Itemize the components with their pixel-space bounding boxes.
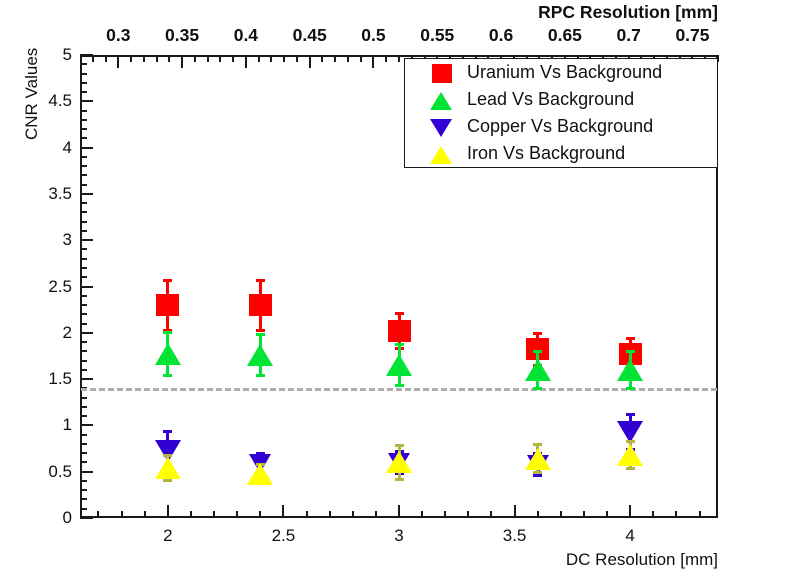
axis-tick	[207, 55, 209, 62]
axis-tick	[80, 258, 87, 260]
axis-tick-label: 4.5	[48, 91, 72, 111]
axis-tick	[352, 511, 354, 518]
data-marker-square	[249, 294, 272, 316]
axis-tick	[194, 55, 196, 62]
legend-label: Lead Vs Background	[467, 89, 634, 110]
axis-tick	[80, 434, 87, 436]
data-marker-square	[156, 294, 179, 316]
axis-tick-label: 0.55	[420, 25, 454, 46]
axis-tick	[121, 511, 123, 518]
axis-tick	[80, 517, 93, 519]
axis-tick	[80, 128, 87, 130]
axis-tick	[245, 55, 247, 68]
data-marker-square	[388, 320, 411, 342]
legend-row[interactable]: Iron Vs Background	[405, 141, 717, 168]
axis-tick	[80, 480, 87, 482]
axis-tick	[92, 55, 94, 62]
axis-tick-label: 0.5	[48, 462, 72, 482]
axis-tick	[270, 55, 272, 62]
axis-tick	[80, 174, 87, 176]
axis-tick	[80, 230, 87, 232]
legend-label: Iron Vs Background	[467, 143, 625, 164]
axis-tick	[181, 55, 183, 68]
axis-tick-label: 2.5	[48, 277, 72, 297]
cnr-scatter-plot: 22.533.540.30.350.40.450.50.550.60.650.7…	[0, 0, 798, 575]
axis-tick	[652, 511, 654, 518]
axis-tick	[385, 55, 387, 62]
error-bar-cap	[533, 350, 542, 353]
axis-tick	[80, 110, 87, 112]
error-bar-cap	[395, 444, 404, 447]
axis-tick	[282, 505, 284, 518]
axis-tick-label: 3.5	[503, 526, 527, 546]
axis-tick-label: 2	[163, 526, 172, 546]
y-axis-title: CNR Values	[22, 48, 42, 140]
axis-tick-label: 4	[625, 526, 634, 546]
legend: Uranium Vs Background Lead Vs Background…	[404, 58, 718, 168]
axis-tick-label: 4	[63, 138, 72, 158]
axis-tick-label: 0.65	[548, 25, 582, 46]
axis-tick	[80, 193, 93, 195]
axis-tick-label: 0.3	[106, 25, 130, 46]
data-marker-triangle-up	[155, 457, 181, 479]
axis-tick	[80, 239, 93, 241]
axis-tick	[80, 471, 93, 473]
axis-tick-label: 1	[63, 415, 72, 435]
axis-tick	[675, 511, 677, 518]
axis-tick	[80, 248, 87, 250]
x-axis-title-top: RPC Resolution [mm]	[538, 2, 718, 23]
axis-tick	[80, 295, 87, 297]
legend-label: Uranium Vs Background	[467, 62, 662, 83]
axis-tick	[80, 54, 93, 56]
axis-tick	[80, 211, 87, 213]
error-bar-cap	[533, 387, 542, 390]
data-marker-triangle-up	[247, 463, 273, 485]
axis-tick	[80, 304, 87, 306]
error-bar-cap	[533, 332, 542, 335]
axis-tick	[309, 55, 311, 68]
data-marker-triangle-up	[247, 344, 273, 366]
axis-tick	[190, 511, 192, 518]
axis-tick	[130, 55, 132, 62]
axis-tick	[347, 55, 349, 62]
data-marker-triangle-up	[386, 451, 412, 473]
axis-tick	[80, 498, 87, 500]
axis-tick	[80, 156, 87, 158]
data-marker-triangle-up	[525, 448, 551, 470]
data-marker-triangle-up	[617, 444, 643, 466]
axis-tick	[232, 55, 234, 62]
axis-tick	[560, 511, 562, 518]
axis-tick	[167, 505, 169, 518]
axis-tick-label: 0.5	[361, 25, 385, 46]
axis-tick	[80, 147, 93, 149]
axis-tick	[398, 55, 400, 62]
axis-tick	[143, 55, 145, 62]
axis-tick	[80, 313, 87, 315]
axis-tick-label: 3	[394, 526, 403, 546]
axis-tick	[80, 82, 87, 84]
data-marker-triangle-up	[386, 354, 412, 376]
error-bar-cap	[163, 430, 172, 433]
error-bar-cap	[163, 279, 172, 282]
x-axis-title-bottom: DC Resolution [mm]	[566, 550, 718, 570]
legend-row[interactable]: Lead Vs Background	[405, 87, 717, 114]
error-bar-cap	[626, 387, 635, 390]
axis-tick	[80, 184, 87, 186]
axis-tick-label: 0.4	[234, 25, 258, 46]
error-bar-cap	[256, 374, 265, 377]
axis-tick	[219, 55, 221, 62]
data-marker-triangle-up	[525, 359, 551, 381]
axis-tick-label: 0.6	[489, 25, 513, 46]
axis-tick	[398, 505, 400, 518]
axis-tick	[80, 165, 87, 167]
error-bar-cap	[626, 467, 635, 470]
error-bar-cap	[395, 312, 404, 315]
axis-tick	[80, 461, 87, 463]
axis-tick	[80, 323, 87, 325]
axis-tick	[80, 350, 87, 352]
axis-tick	[629, 505, 631, 518]
error-bar-cap	[533, 474, 542, 477]
error-bar-cap	[256, 329, 265, 332]
axis-tick	[80, 137, 87, 139]
axis-tick	[80, 360, 87, 362]
axis-tick	[213, 511, 215, 518]
axis-tick	[236, 511, 238, 518]
axis-tick	[168, 55, 170, 62]
axis-tick-label: 0.75	[675, 25, 709, 46]
error-bar-cap	[533, 443, 542, 446]
axis-tick	[80, 286, 93, 288]
axis-tick	[80, 452, 87, 454]
axis-tick	[80, 378, 93, 380]
axis-tick	[296, 55, 298, 62]
error-bar-cap	[533, 471, 542, 474]
axis-tick	[490, 511, 492, 518]
axis-tick	[259, 511, 261, 518]
axis-tick	[97, 511, 99, 518]
axis-tick	[80, 443, 87, 445]
axis-tick	[80, 202, 87, 204]
error-bar-cap	[163, 331, 172, 334]
axis-tick	[80, 91, 87, 93]
axis-tick-label: 0.45	[293, 25, 327, 46]
axis-tick	[375, 511, 377, 518]
data-marker-triangle-up	[617, 359, 643, 381]
legend-row[interactable]: Copper Vs Background	[405, 114, 717, 141]
error-bar-cap	[256, 279, 265, 282]
axis-tick	[606, 511, 608, 518]
error-bar-cap	[256, 333, 265, 336]
legend-marker-square-icon	[427, 60, 461, 87]
legend-marker-triangle-up-icon	[427, 141, 461, 168]
axis-tick	[80, 332, 93, 334]
axis-tick	[80, 63, 87, 65]
legend-row[interactable]: Uranium Vs Background	[405, 60, 717, 87]
axis-tick	[306, 511, 308, 518]
axis-tick	[80, 221, 87, 223]
axis-tick	[105, 55, 107, 62]
error-bar-cap	[626, 350, 635, 353]
axis-tick	[467, 511, 469, 518]
axis-tick	[80, 267, 87, 269]
axis-tick-label: 0.7	[617, 25, 641, 46]
axis-tick	[80, 489, 87, 491]
axis-tick	[80, 406, 87, 408]
axis-tick	[444, 511, 446, 518]
axis-tick-label: 2	[63, 323, 72, 343]
axis-tick	[80, 397, 87, 399]
error-bar-cap	[163, 374, 172, 377]
axis-tick-label: 2.5	[272, 526, 296, 546]
axis-tick-label: 0	[63, 508, 72, 528]
axis-tick	[144, 511, 146, 518]
axis-tick	[421, 511, 423, 518]
axis-tick-label: 5	[63, 45, 72, 65]
axis-tick	[80, 424, 93, 426]
axis-tick	[699, 511, 701, 518]
axis-tick	[80, 119, 87, 121]
axis-tick	[537, 511, 539, 518]
error-bar-cap	[395, 343, 404, 346]
error-bar-cap	[626, 413, 635, 416]
axis-tick	[117, 55, 119, 68]
legend-marker-triangle-up-icon	[427, 87, 461, 114]
error-bar-cap	[626, 337, 635, 340]
legend-label: Copper Vs Background	[467, 116, 653, 137]
axis-tick	[80, 341, 87, 343]
axis-tick	[80, 508, 87, 510]
axis-tick	[334, 55, 336, 62]
error-bar-cap	[395, 478, 404, 481]
axis-tick	[329, 511, 331, 518]
axis-tick	[80, 73, 87, 75]
axis-tick-label: 3.5	[48, 184, 72, 204]
axis-tick-label: 0.35	[165, 25, 199, 46]
legend-marker-triangle-down-icon	[427, 114, 461, 141]
error-bar-cap	[626, 440, 635, 443]
error-bar-cap	[395, 384, 404, 387]
axis-tick	[583, 511, 585, 518]
axis-tick	[360, 55, 362, 62]
axis-tick-label: 3	[63, 230, 72, 250]
axis-tick	[80, 276, 87, 278]
axis-tick	[321, 55, 323, 62]
axis-tick	[80, 369, 87, 371]
axis-tick	[258, 55, 260, 62]
axis-tick	[80, 415, 87, 417]
axis-tick	[283, 55, 285, 62]
axis-tick	[156, 55, 158, 62]
data-marker-triangle-up	[155, 343, 181, 365]
axis-tick	[372, 55, 374, 68]
axis-tick	[80, 100, 93, 102]
axis-tick	[514, 505, 516, 518]
axis-tick-label: 1.5	[48, 369, 72, 389]
threshold-line	[81, 388, 717, 391]
